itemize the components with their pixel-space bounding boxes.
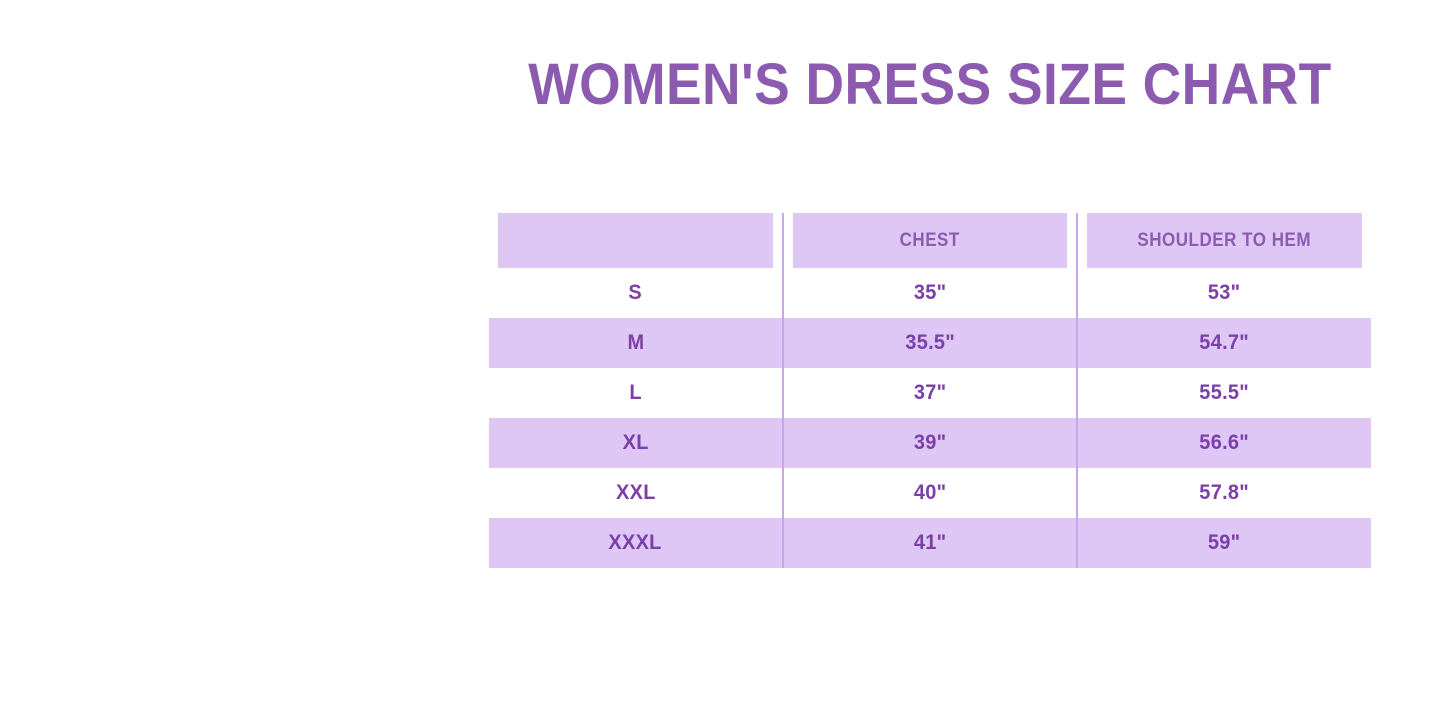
table-row: S 35" 53" — [489, 268, 1371, 318]
cell-size: XXXL — [489, 518, 783, 568]
column-header-chest: CHEST — [792, 213, 1068, 268]
cell-shoulder-to-hem-value: 55.5" — [1200, 381, 1250, 405]
size-chart-page: WOMEN'S DRESS SIZE CHART CHEST SHOULDER … — [0, 0, 1445, 723]
page-title: WOMEN'S DRESS SIZE CHART — [524, 56, 1335, 114]
table-header-row: CHEST SHOULDER TO HEM — [489, 213, 1371, 268]
cell-shoulder-to-hem-value: 53" — [1208, 281, 1241, 305]
cell-shoulder-to-hem: 55.5" — [1077, 368, 1371, 418]
cell-shoulder-to-hem-value: 54.7" — [1200, 331, 1250, 355]
cell-shoulder-to-hem-value: 59" — [1208, 531, 1241, 555]
cell-chest-value: 37" — [914, 381, 947, 405]
cell-size-value: L — [629, 381, 641, 405]
cell-size: XXL — [489, 468, 783, 518]
cell-size-value: XXXL — [609, 531, 662, 555]
table-row: XXXL 41" 59" — [489, 518, 1371, 568]
cell-chest-value: 41" — [914, 531, 947, 555]
cell-shoulder-to-hem: 54.7" — [1077, 318, 1371, 368]
cell-size: XL — [489, 418, 783, 468]
column-header-chest-label: CHEST — [900, 230, 960, 252]
column-header-shoulder-to-hem: SHOULDER TO HEM — [1086, 213, 1362, 268]
cell-shoulder-to-hem: 56.6" — [1077, 418, 1371, 468]
cell-shoulder-to-hem: 59" — [1077, 518, 1371, 568]
table-row: XL 39" 56.6" — [489, 418, 1371, 468]
cell-shoulder-to-hem: 53" — [1077, 268, 1371, 318]
column-header-shoulder-to-hem-label: SHOULDER TO HEM — [1138, 230, 1312, 252]
cell-chest: 35" — [783, 268, 1077, 318]
cell-size: M — [489, 318, 783, 368]
cell-chest-value: 35" — [914, 281, 947, 305]
cell-chest: 40" — [783, 468, 1077, 518]
table-row: M 35.5" 54.7" — [489, 318, 1371, 368]
cell-chest: 37" — [783, 368, 1077, 418]
cell-size-value: M — [627, 331, 644, 355]
cell-chest: 35.5" — [783, 318, 1077, 368]
cell-chest: 39" — [783, 418, 1077, 468]
cell-chest-value: 39" — [914, 431, 947, 455]
cell-chest-value: 35.5" — [905, 331, 955, 355]
column-header-size — [498, 213, 774, 268]
size-chart-table-container: CHEST SHOULDER TO HEM S 35" 53" — [489, 213, 1371, 568]
table-row: L 37" 55.5" — [489, 368, 1371, 418]
cell-size: L — [489, 368, 783, 418]
table-row: XXL 40" 57.8" — [489, 468, 1371, 518]
cell-size: S — [489, 268, 783, 318]
cell-chest-value: 40" — [914, 481, 947, 505]
cell-shoulder-to-hem-value: 57.8" — [1200, 481, 1250, 505]
cell-size-value: S — [629, 281, 643, 305]
cell-size-value: XXL — [616, 481, 656, 505]
cell-shoulder-to-hem-value: 56.6" — [1200, 431, 1250, 455]
size-chart-table: CHEST SHOULDER TO HEM S 35" 53" — [489, 213, 1371, 568]
cell-size-value: XL — [622, 431, 648, 455]
cell-chest: 41" — [783, 518, 1077, 568]
cell-shoulder-to-hem: 57.8" — [1077, 468, 1371, 518]
